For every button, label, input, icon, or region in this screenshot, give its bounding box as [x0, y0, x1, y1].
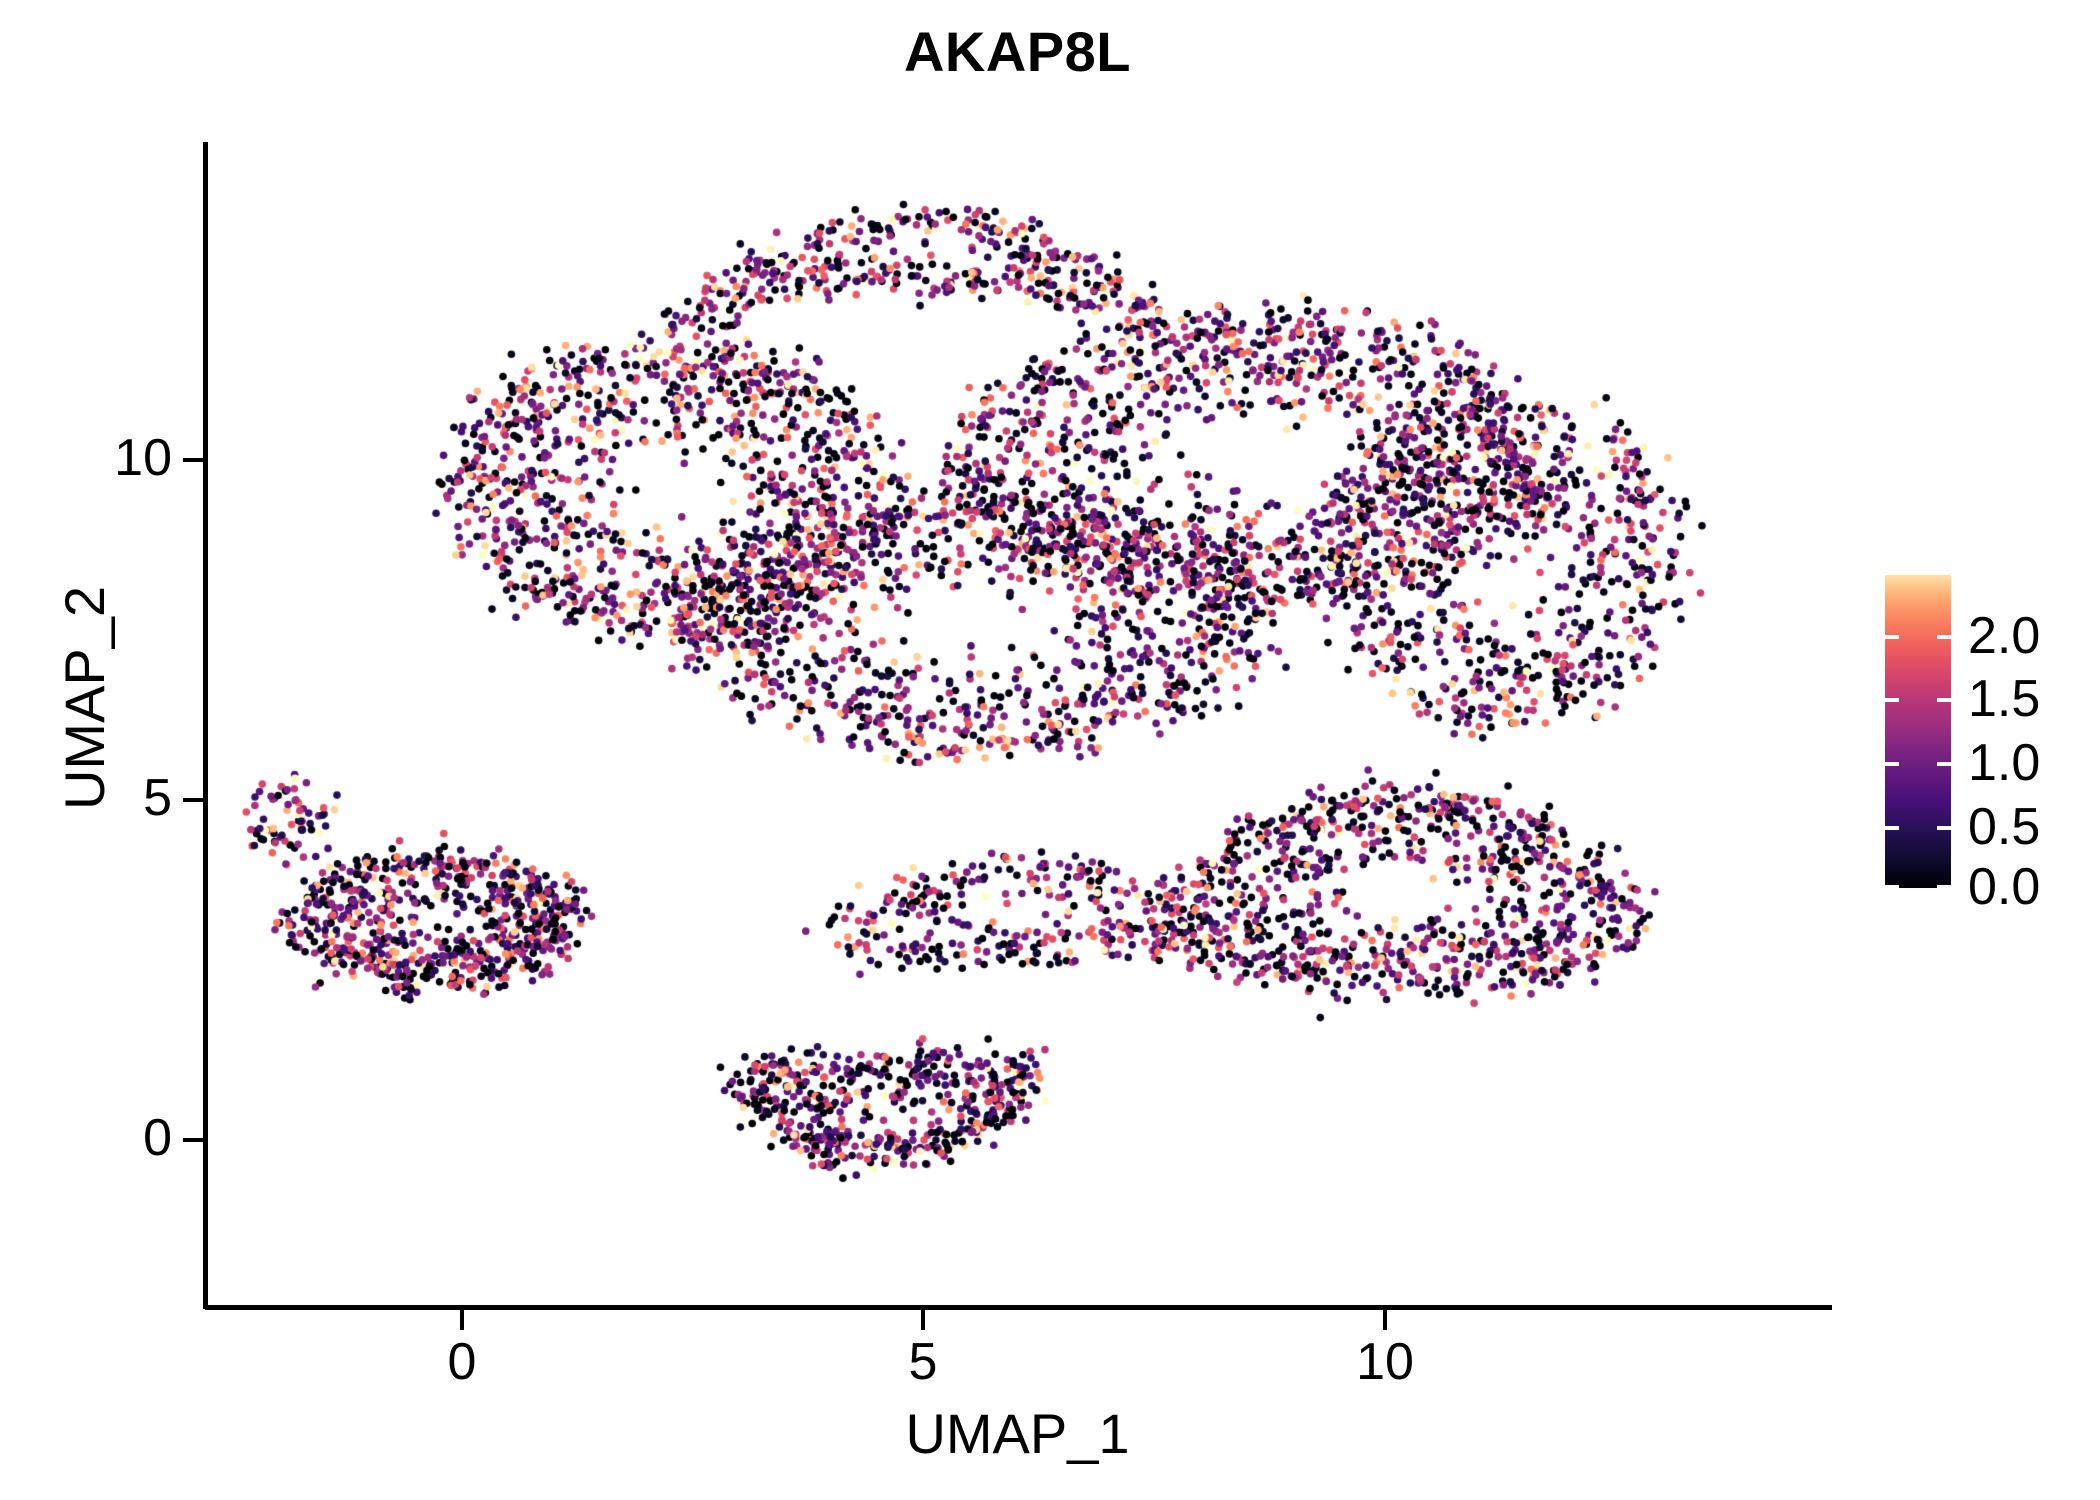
legend-label-2.0: 2.0 — [1968, 610, 2040, 662]
color-legend: 2.0 1.5 1.0 0.5 0.0 — [1880, 570, 2080, 900]
x-tick-mark-0 — [460, 1310, 464, 1330]
legend-label-1.5: 1.5 — [1968, 673, 2040, 725]
legend-tick-1.0-left — [1885, 762, 1899, 766]
y-tick-label-0: 0 — [0, 1112, 172, 1164]
y-tick-mark-10 — [183, 458, 203, 462]
colorbar-gradient — [1885, 575, 1951, 888]
legend-tick-0.5-left — [1885, 826, 1899, 830]
x-tick-mark-5 — [921, 1310, 925, 1330]
legend-tick-0.0-left — [1885, 885, 1899, 889]
umap-feature-plot: AKAP8L 0 5 10 10 5 0 UMAP_1 UMAP_2 2.0 1… — [0, 0, 2100, 1500]
x-axis-title: UMAP_1 — [205, 1406, 1830, 1462]
x-tick-label-0: 0 — [372, 1336, 552, 1388]
y-axis-line — [203, 142, 208, 1309]
legend-label-0.5: 0.5 — [1968, 801, 2040, 853]
legend-tick-2.0-left — [1885, 635, 1899, 639]
legend-tick-0.5-right — [1937, 826, 1951, 830]
x-axis-line — [205, 1305, 1832, 1310]
x-tick-mark-10 — [1383, 1310, 1387, 1330]
scatter-plot-canvas — [205, 142, 1830, 1307]
page-title: AKAP8L — [205, 24, 1830, 80]
y-axis-title: UMAP_2 — [57, 298, 113, 1098]
legend-tick-1.5-right — [1937, 698, 1951, 702]
x-tick-label-10: 10 — [1295, 1336, 1475, 1388]
x-tick-label-5: 5 — [833, 1336, 1013, 1388]
y-tick-mark-0 — [183, 1138, 203, 1142]
legend-tick-1.0-right — [1937, 762, 1951, 766]
y-tick-mark-5 — [183, 798, 203, 802]
legend-label-0.0: 0.0 — [1968, 861, 2040, 913]
legend-tick-2.0-right — [1937, 635, 1951, 639]
legend-tick-0.0-right — [1937, 885, 1951, 889]
plot-panel — [205, 142, 1830, 1307]
legend-tick-1.5-left — [1885, 698, 1899, 702]
legend-label-1.0: 1.0 — [1968, 737, 2040, 789]
